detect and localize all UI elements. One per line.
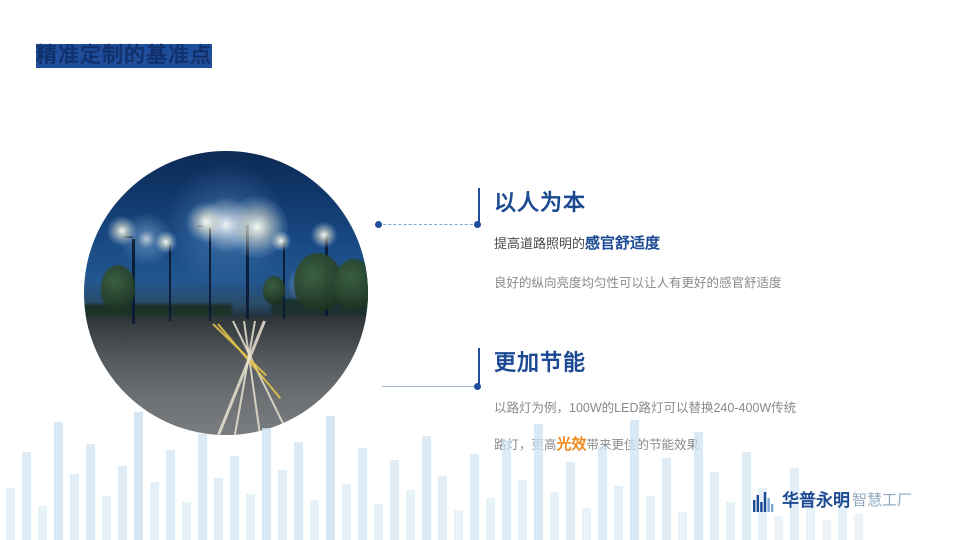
decor-bar (726, 502, 735, 540)
decor-bar (246, 494, 255, 540)
lamp-glow (186, 202, 226, 242)
roadside-tree (334, 259, 368, 311)
decor-bar (518, 480, 527, 540)
decor-bar (294, 442, 303, 540)
decor-bar (646, 496, 655, 540)
decor-bar (550, 492, 559, 540)
section-2-body-highlight: 光效 (557, 436, 587, 453)
section-1-subtitle: 提高道路照明的感官舒适度 (494, 232, 660, 253)
decor-bar (486, 498, 495, 540)
logo-mark-icon (753, 490, 777, 512)
decor-bar (86, 444, 95, 540)
photo-image (84, 151, 368, 435)
decor-bar (454, 510, 463, 540)
logo-name-cn: 华普永明 (782, 490, 850, 512)
decor-bar (358, 448, 367, 540)
decor-bar (278, 470, 287, 540)
decor-bar (198, 434, 207, 540)
section-2-body-line1: 以路灯为例，100W的LED路灯可以替换240-400W传统 (494, 393, 796, 423)
decor-bar (614, 486, 623, 540)
lamp-glow (107, 216, 137, 246)
lamp-pole (169, 245, 171, 322)
decor-bar (390, 460, 399, 540)
decor-bar (678, 512, 687, 540)
connector-dot-left-1 (375, 221, 382, 228)
decor-bar (742, 452, 751, 540)
decor-bar (598, 446, 607, 540)
decor-bar (470, 454, 479, 540)
section-1-body: 良好的纵向亮度均匀性可以让人有更好的感官舒适度 (494, 268, 782, 298)
section-marker-2 (478, 348, 480, 388)
section-2-body-post: 带来更佳的节能效果 (587, 438, 700, 452)
decor-bar (710, 472, 719, 540)
roadside-tree (263, 276, 285, 304)
decor-bar (342, 484, 351, 540)
decor-bar (230, 456, 239, 540)
lamp-pole (283, 242, 285, 319)
decor-bar (54, 422, 63, 540)
decor-bar (70, 474, 79, 540)
decor-bar (662, 458, 671, 540)
decor-bar (182, 502, 191, 540)
connector-dashed-1 (378, 224, 478, 225)
decor-bar (774, 516, 783, 540)
section-1-subtitle-highlight: 感官舒适度 (585, 235, 660, 252)
section-1-subtitle-prefix: 提高道路照明的 (494, 236, 585, 251)
section-marker-1 (478, 188, 480, 226)
page-title: 精准定制的基准点 (36, 42, 456, 70)
decor-bar (582, 508, 591, 540)
decor-bar (406, 490, 415, 540)
company-logo: 华普永明 智慧工厂 (753, 488, 912, 514)
decor-bar (438, 476, 447, 540)
decor-bar (310, 500, 319, 540)
title-text: 精准定制的基准点 (36, 42, 212, 70)
decor-bar (38, 506, 47, 540)
section-2-body-pre: 路灯，更高 (494, 438, 557, 452)
connector-solid-2 (382, 386, 478, 387)
decor-bar (150, 482, 159, 540)
section-1-heading: 以人为本 (494, 185, 586, 217)
decor-bar (118, 466, 127, 540)
section-2-heading: 更加节能 (494, 345, 586, 377)
decor-bar (854, 514, 863, 540)
decor-bar (374, 504, 383, 540)
slide-canvas: 精准定制的基准点 (0, 0, 960, 540)
lamp-glow (311, 222, 337, 248)
lamp-glow (271, 231, 291, 251)
decor-bar (214, 478, 223, 540)
section-2-body-line2: 路灯，更高光效带来更佳的节能效果 (494, 430, 699, 460)
decor-bar (422, 436, 431, 540)
section-2-heading-wrap: 更加节能 (494, 345, 586, 377)
decor-bar (262, 428, 271, 540)
roadside-tree (101, 265, 135, 311)
decor-bar (822, 520, 831, 540)
decor-bar (166, 450, 175, 540)
logo-name-sub: 智慧工厂 (852, 490, 912, 512)
section-1-heading-wrap: 以人为本 (494, 185, 586, 217)
street-lighting-photo (84, 151, 368, 435)
lamp-glow (155, 231, 177, 253)
decor-bar (102, 496, 111, 540)
decor-bar (6, 488, 15, 540)
decor-bar (22, 452, 31, 540)
decor-bar (566, 462, 575, 540)
